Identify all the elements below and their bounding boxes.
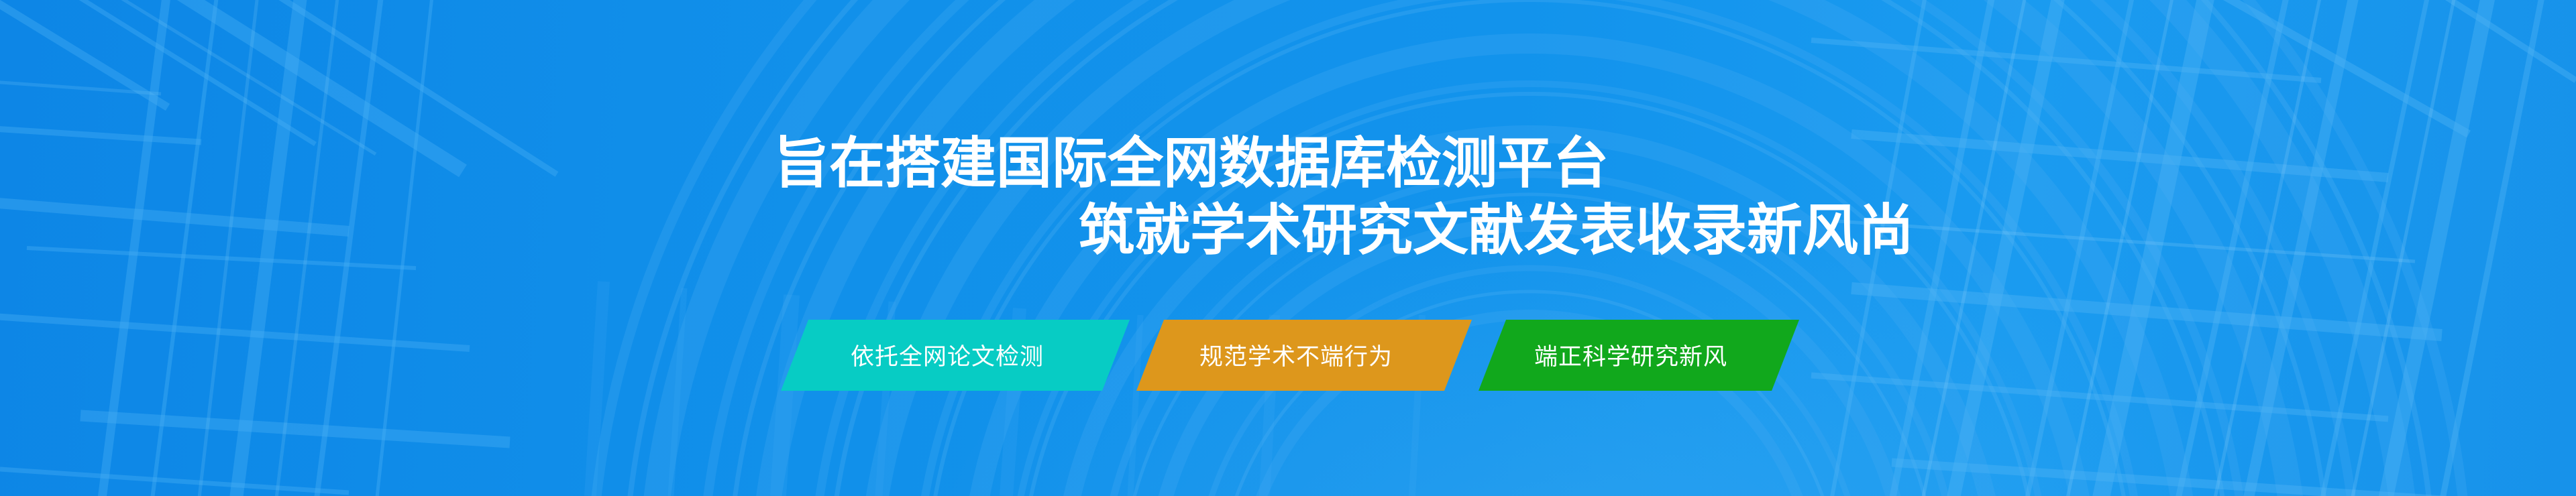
tag-strip: 依托全网论文检测 规范学术不端行为 端正科学研究新风 — [0, 320, 2576, 391]
tag-paper-detection-label: 依托全网论文检测 — [851, 338, 1044, 372]
headline-line-2: 筑就学术研究文献发表收录新风尚 — [1079, 200, 1914, 261]
hero-banner: 旨在搭建国际全网数据库检测平台 筑就学术研究文献发表收录新风尚 依托全网论文检测… — [0, 0, 2576, 496]
tag-academic-misconduct[interactable]: 规范学术不端行为 — [1136, 320, 1472, 391]
tag-paper-detection[interactable]: 依托全网论文检测 — [781, 320, 1130, 391]
tag-research-ethos-label: 端正科学研究新风 — [1534, 338, 1727, 372]
headline-line-1: 旨在搭建国际全网数据库检测平台 — [773, 133, 1609, 194]
headline-group: 旨在搭建国际全网数据库检测平台 筑就学术研究文献发表收录新风尚 — [0, 0, 2576, 496]
tag-research-ethos[interactable]: 端正科学研究新风 — [1479, 320, 1799, 391]
tag-academic-misconduct-label: 规范学术不端行为 — [1199, 338, 1393, 372]
